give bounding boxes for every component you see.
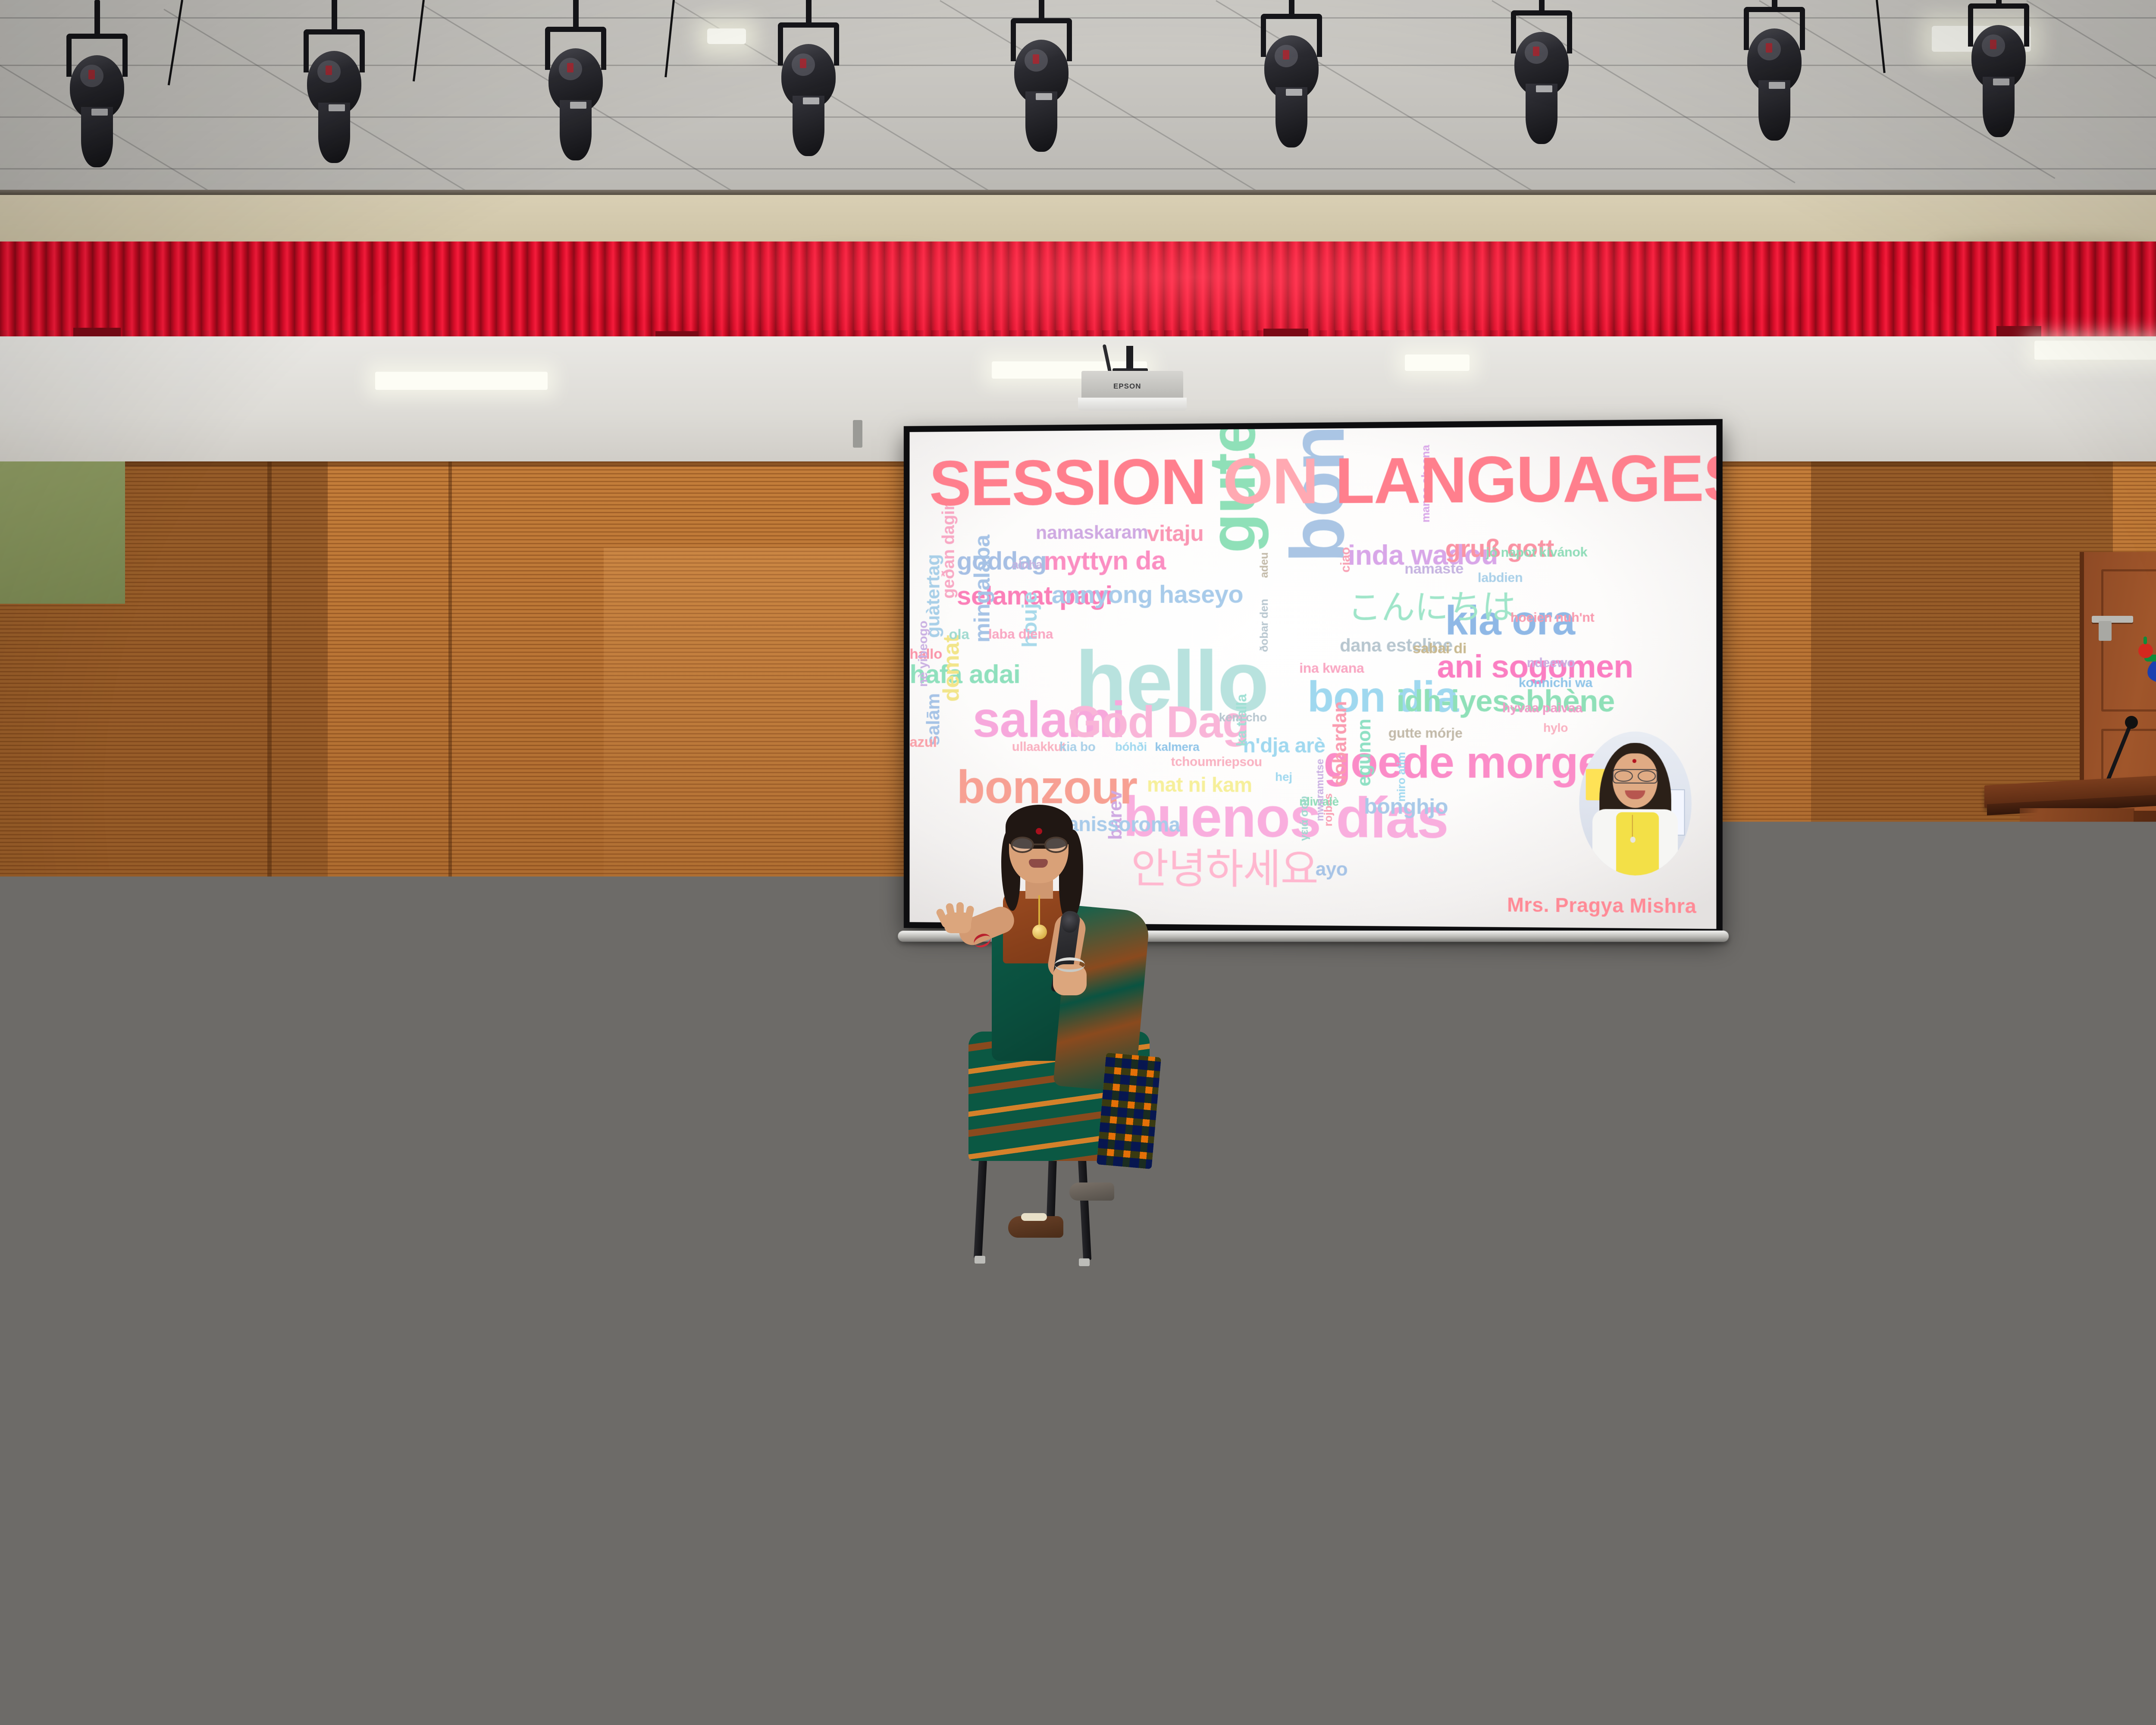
eyeglasses-icon <box>455 1144 466 1151</box>
audience-member <box>0 1499 54 1665</box>
ceiling-strip-light <box>375 372 548 390</box>
word-cloud-term: ullaakkut <box>1012 741 1066 753</box>
word-cloud-term: annyong haseyo <box>1052 583 1243 606</box>
audience-member <box>2091 1113 2131 1183</box>
word-cloud-term: dobardan <box>1332 702 1349 787</box>
audience-member <box>535 1130 575 1199</box>
audience-member <box>1848 1165 1896 1248</box>
audience-member <box>1374 1173 1422 1256</box>
headline-word-session: SESSION <box>929 445 1206 519</box>
word-cloud-term: ayo <box>1316 861 1348 878</box>
word-cloud-term: hoeien nuh'nt <box>1510 612 1595 624</box>
word-cloud-term: こんにちは <box>1348 592 1516 624</box>
word-cloud-term: miro atim <box>1396 752 1407 802</box>
bindi-icon <box>1036 828 1042 834</box>
microphone-head-icon <box>2125 716 2138 729</box>
word-cloud-term: azul <box>909 736 937 749</box>
headline-word-languages: LANGUAGES <box>1335 441 1716 517</box>
word-cloud-term: tchoumriepsou <box>1171 756 1262 768</box>
word-cloud-term: jó napot kívánok <box>1486 547 1587 559</box>
word-cloud-term: konnichi wa <box>1519 677 1592 689</box>
audience-seating <box>0 1026 2156 1725</box>
word-cloud-term: aloha <box>1012 559 1042 570</box>
papers-on-table <box>189 975 248 989</box>
word-cloud-term: n'dja arè <box>1243 737 1326 756</box>
eyeglasses-icon <box>1868 1521 1895 1537</box>
silver-bangles-icon <box>1055 957 1085 972</box>
auditorium-scene: EPSON <box>0 0 2156 1725</box>
audience-member <box>446 1391 526 1530</box>
ceiling-strip-light <box>2034 341 2156 360</box>
adult-attendee <box>1188 1301 1261 1426</box>
audience-member <box>1666 1478 1762 1644</box>
word-cloud-term: ola <box>949 628 969 641</box>
projector-brand-label: EPSON <box>1113 382 1141 391</box>
word-cloud-term: γειά σου <box>1299 796 1310 841</box>
audience-member <box>1703 1119 1743 1188</box>
eyeglasses-icon <box>250 1337 269 1349</box>
podium-peacock-emblem <box>2049 844 2105 894</box>
audience-member <box>329 1496 425 1662</box>
eyeglasses-icon <box>2089 1129 2100 1136</box>
audience-member <box>144 1490 240 1656</box>
word-cloud-term: ina kwana <box>1299 662 1364 675</box>
foreground-attendee <box>276 1699 399 1725</box>
audience-member <box>1792 1217 1849 1316</box>
laptop-screen[interactable] <box>127 932 196 987</box>
word-cloud-term: kalmera <box>1155 741 1199 753</box>
audience-member <box>1238 1123 1278 1192</box>
word-cloud-term: gutte mórje <box>1388 727 1463 740</box>
stage-curtain-valance <box>0 241 2156 341</box>
audience-member <box>1977 1377 2057 1515</box>
presenter-portrait-photo <box>1579 731 1692 876</box>
word-cloud-term: nè yibeogo <box>918 621 929 687</box>
ceiling-spot <box>1405 354 1470 371</box>
foreground-attendee <box>1048 1660 1184 1725</box>
word-cloud-term: myttyn da <box>1044 549 1166 574</box>
word-cloud-term: kia bo <box>1059 741 1095 753</box>
word-cloud-term: ndeewo <box>1527 657 1575 669</box>
audience-member <box>1045 1490 1141 1656</box>
audience-member <box>490 1180 538 1263</box>
headline-word-on: ON <box>1223 444 1318 517</box>
eyeglasses-icon <box>1011 837 1068 853</box>
ceiling-projector: EPSON <box>1081 371 1183 411</box>
word-cloud-term: namaskaram <box>1036 524 1148 542</box>
audience-member <box>1873 1483 1969 1650</box>
foreground-attendee <box>1294 1716 1423 1725</box>
screen-wall-bracket <box>853 420 862 448</box>
green-wall-section <box>0 461 125 604</box>
word-cloud-term: adeu <box>1259 552 1269 578</box>
door-latch-icon[interactable] <box>2092 616 2133 623</box>
word-cloud-term: vitaju <box>1147 524 1203 544</box>
word-cloud-term: egunon <box>1356 719 1373 787</box>
peacock-wall-art <box>2136 637 2156 689</box>
word-cloud-term: kem cho <box>1219 712 1267 723</box>
word-cloud-term: bóhði <box>1115 741 1147 753</box>
pendant-icon <box>1032 925 1047 939</box>
word-cloud-term: hyvaa paivaa <box>1502 702 1583 714</box>
eyeglasses-icon <box>139 1527 166 1544</box>
word-cloud-term: sabai di <box>1413 642 1467 656</box>
word-cloud-term: mat ni kam <box>1147 776 1252 795</box>
raised-open-hand <box>938 895 975 928</box>
word-cloud-term: demat <box>941 635 962 702</box>
word-cloud-term: namaste <box>1404 562 1463 576</box>
audience-member <box>1459 1487 1555 1653</box>
eyeglasses-icon <box>1901 1242 1917 1251</box>
adult-attendee <box>1324 1294 1396 1419</box>
eyeglasses-icon <box>1546 1135 1557 1142</box>
word-cloud-term: laba diena <box>988 628 1053 640</box>
audience-member <box>1252 1482 1348 1648</box>
audience-member <box>1573 1291 1640 1408</box>
word-cloud-term: ciao <box>1340 547 1352 573</box>
word-cloud-term: hej <box>1275 772 1292 783</box>
audience-member <box>2080 1476 2156 1642</box>
slide-author-credit: Mrs. Pragya Mishra <box>1507 893 1696 918</box>
audience-member <box>383 1303 450 1420</box>
audience-member <box>330 1233 387 1331</box>
eyeglasses-icon <box>435 1258 451 1268</box>
foreground-attendee <box>1932 1682 2061 1725</box>
word-cloud-term: hylo <box>1543 722 1568 734</box>
eyeglasses-icon <box>1708 1320 1727 1332</box>
adult-attendee <box>1259 1233 1321 1339</box>
word-cloud-term: labdien <box>1478 572 1523 584</box>
word-cloud-term: mwaramutse <box>1316 759 1325 821</box>
word-cloud-term: ðobar den <box>1259 599 1269 652</box>
eyeglasses-icon <box>1846 1184 1859 1192</box>
slide-headline: SESSION ON LANGUAGES <box>929 440 1695 520</box>
door-latch-plate-icon <box>2099 621 2112 641</box>
necklace-chain <box>1038 895 1040 927</box>
eyeglasses-icon <box>578 1201 591 1209</box>
